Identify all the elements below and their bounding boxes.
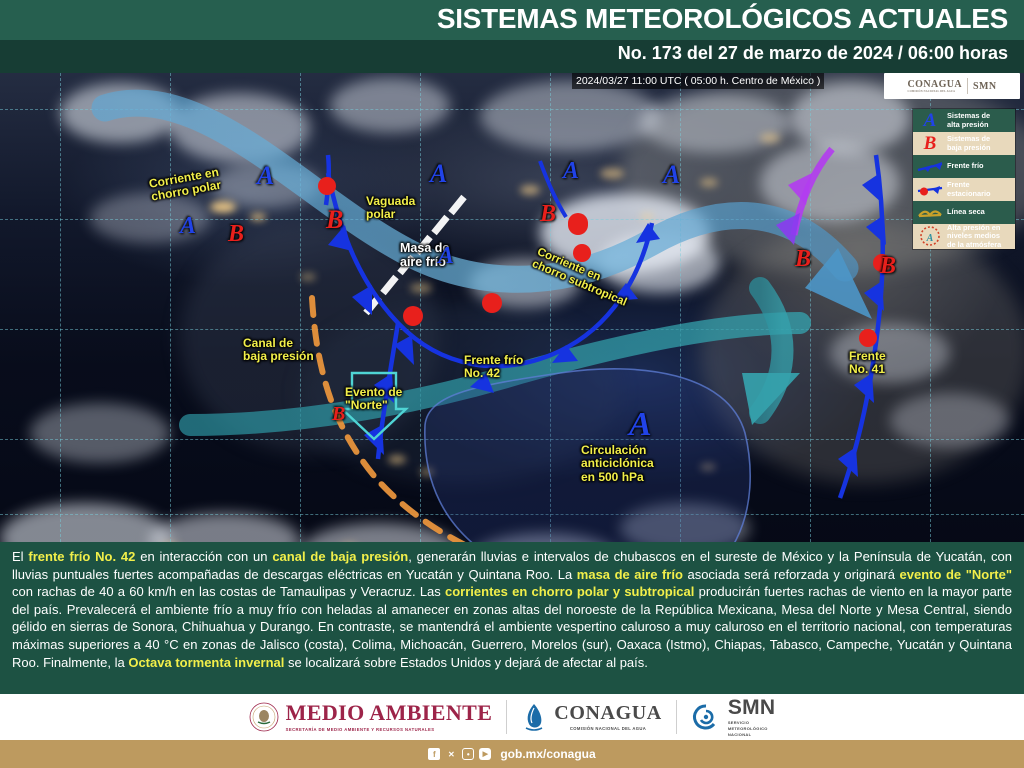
legend-row-4[interactable]: Línea seca: [913, 201, 1015, 224]
northern-front-bump: [318, 177, 336, 195]
footer-divider-1: [506, 700, 507, 734]
summary-text-run: asociada será reforzada y originará: [683, 567, 900, 582]
highlighted-term: evento de "Norte": [900, 567, 1012, 582]
highlighted-term: Octava tormenta invernal: [128, 655, 284, 670]
front-41-line: [840, 155, 883, 498]
page-title: SISTEMAS METEOROLÓGICOS ACTUALES: [437, 3, 1008, 35]
gobmx-url[interactable]: gob.mx/conagua: [500, 747, 595, 761]
footer-divider-2: [676, 700, 677, 734]
footer-logos: MEDIO AMBIENTE SECRETARÍA DE MEDIO AMBIE…: [0, 694, 1024, 740]
polar-jet-arrowhead: [805, 248, 872, 319]
smn-title: SMN: [728, 697, 776, 718]
legend-label-3: Frenteestacionario: [947, 181, 994, 198]
weather-systems-overlay: [0, 73, 1024, 542]
highlighted-term: canal de baja presión: [272, 549, 408, 564]
legend-label-1: Sistemas debaja presión: [947, 135, 994, 152]
dry-line-icon: [913, 206, 947, 220]
conagua-subtitle: COMISIÓN NACIONAL DEL AGUA: [554, 726, 662, 731]
upper-right-front-bump: [568, 213, 588, 233]
smn-spiral-icon: [691, 702, 721, 732]
smn-mini-logo: SMN: [973, 81, 996, 92]
forecast-summary-text: El frente frío No. 42 en interacción con…: [0, 542, 1024, 694]
weather-bulletin-page: SISTEMAS METEOROLÓGICOS ACTUALES No. 173…: [0, 0, 1024, 768]
upper-right-front-line: [540, 161, 566, 217]
cold-front-icon: [913, 160, 947, 174]
highlighted-term: masa de aire frío: [577, 567, 683, 582]
medio-ambiente-logo: MEDIO AMBIENTE SECRETARÍA DE MEDIO AMBIE…: [249, 702, 493, 732]
high-pressure-A-icon: A: [913, 110, 947, 131]
mexico-eagle-seal-icon: [249, 702, 279, 732]
summary-text-run: El: [12, 549, 28, 564]
smn-subtitle: SERVICIOMETEOROLÓGICONACIONAL: [728, 720, 776, 738]
footer-social-bar: f ✕ • ▶ gob.mx/conagua: [0, 740, 1024, 768]
conagua-mini-label: CONAGUA: [908, 79, 962, 90]
anticyclonic-circulation-area: [425, 369, 750, 542]
legend-row-3[interactable]: Frenteestacionario: [913, 178, 1015, 201]
x-twitter-icon[interactable]: ✕: [445, 748, 457, 760]
legend-row-5[interactable]: A Alta presión enniveles mediosde la atm…: [913, 224, 1015, 249]
legend-row-1[interactable]: B Sistemas debaja presión: [913, 132, 1015, 155]
medio-ambiente-title: MEDIO AMBIENTE: [286, 702, 493, 724]
logo-divider: [967, 78, 968, 94]
polar-jet-ribbon: [105, 103, 845, 279]
smn-logo: SMN SERVICIOMETEOROLÓGICONACIONAL: [691, 697, 776, 738]
conagua-water-eagle-icon: [521, 702, 547, 732]
utc-timestamp: 2024/03/27 11:00 UTC ( 05:00 h. Centro d…: [572, 73, 824, 89]
satellite-weather-map[interactable]: 2024/03/27 11:00 UTC ( 05:00 h. Centro d…: [0, 73, 1024, 542]
mid-level-high-icon: A: [913, 225, 947, 247]
legend-label-5: Alta presión enniveles mediosde la atmós…: [947, 224, 1004, 249]
legend-label-0: Sistemas dealta presión: [947, 112, 993, 129]
youtube-icon[interactable]: ▶: [479, 748, 491, 760]
bulletin-number-date: No. 173 del 27 de marzo de 2024 / 06:00 …: [618, 43, 1008, 64]
summary-text-run: en interacción con un: [135, 549, 272, 564]
highlighted-term: frente frío No. 42: [28, 549, 135, 564]
summary-text-run: se localizará sobre Estados Unidos y dej…: [284, 655, 647, 670]
legend-label-2: Frente frío: [947, 162, 987, 170]
conagua-title: CONAGUA: [554, 703, 662, 723]
summary-text-run: con rachas de 40 a 60 km/h en las costas…: [12, 584, 445, 599]
conagua-logo: CONAGUA COMISIÓN NACIONAL DEL AGUA: [521, 702, 662, 732]
svg-text:A: A: [926, 233, 934, 244]
low-pressure-B-icon: B: [913, 133, 947, 154]
highlighted-term: corrientes en chorro polar y subtropical: [445, 584, 694, 599]
conagua-mini-logo: CONAGUA COMISIÓN NACIONAL DEL AGUA: [908, 79, 962, 93]
conagua-mini-sub: COMISIÓN NACIONAL DEL AGUA: [908, 90, 962, 93]
header-logo-strip: CONAGUA COMISIÓN NACIONAL DEL AGUA SMN: [884, 73, 1020, 99]
map-legend: A Sistemas dealta presión B Sistemas deb…: [912, 108, 1016, 250]
legend-label-4: Línea seca: [947, 208, 988, 216]
stationary-front-icon: [913, 183, 947, 197]
subtropical-jet-arrowhead: [742, 373, 800, 425]
facebook-icon[interactable]: f: [428, 748, 440, 760]
legend-row-2[interactable]: Frente frío: [913, 155, 1015, 178]
instagram-icon[interactable]: •: [462, 748, 474, 760]
medio-ambiente-subtitle: SECRETARÍA DE MEDIO AMBIENTE Y RECURSOS …: [286, 727, 493, 732]
legend-row-0[interactable]: A Sistemas dealta presión: [913, 109, 1015, 132]
